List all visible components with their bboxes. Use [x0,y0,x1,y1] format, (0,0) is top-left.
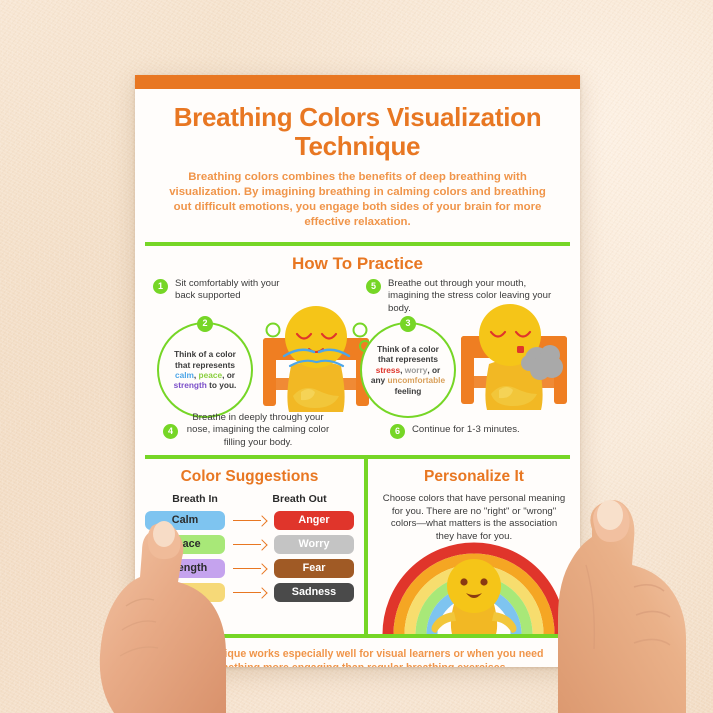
color-pair-row: PeaceWorry [145,535,354,554]
bottom-panels: Color Suggestions Breath In Breath Out C… [135,459,580,634]
color-table-headers: Breath In Breath Out [145,493,354,505]
section-title-personalize: Personalize It [378,468,570,486]
step-item-4: 4 Breathe in deeply through your nose, i… [163,412,331,449]
section-title-color-suggestions: Color Suggestions [145,468,354,486]
breath-in-chip-calm[interactable]: Calm [145,511,225,530]
bubble2-word-calm: calm [175,370,194,380]
breath-in-chip-strength[interactable]: Strength [145,559,225,578]
color-pair-row: CalmAnger [145,511,354,530]
bubble3-word-stress: stress [376,365,400,375]
step-badge-2: 2 [197,316,213,332]
step-badge-1: 1 [153,279,168,294]
step-text-4: Breathe in deeply through your nose, ima… [185,412,331,449]
step-badge-3: 3 [400,316,416,332]
bottom-steps-row: 4 Breathe in deeply through your nose, i… [135,412,580,449]
top-accent-bar [135,75,580,89]
poster-card: Breathing Colors Visualization Technique… [135,75,580,667]
breath-in-chip-joy[interactable]: Joy [145,583,225,602]
exhaling-character-illustration [455,302,573,414]
arrow-right-icon [231,515,269,525]
column-header-breath-out: Breath Out [272,493,326,505]
color-pair-row: JoySadness [145,583,354,602]
footer-note: This technique works especially well for… [135,638,580,667]
bubble3-lead: Think of a color that represents [377,344,439,364]
step-text-1: Sit comfortably with your back supported [175,278,293,303]
section-title-practice: How To Practice [147,254,568,274]
poster-intro-text: Breathing colors combines the benefits o… [161,170,554,230]
arrow-right-icon [231,539,269,549]
bubble2-lead: Think of a color that represents [174,349,236,369]
bubble2-word-strength: strength [174,380,207,390]
page-title: Breathing Colors Visualization Technique [161,103,554,161]
personalize-description: Choose colors that have personal meaning… [378,493,570,543]
step-bubble-3: 3 Think of a color that represents stres… [360,322,456,418]
bubble3-word-uncomfortable: uncomfortable [387,375,445,385]
step-bubble-2: 2 Think of a color that represents calm,… [157,322,253,418]
breath-out-chip-fear[interactable]: Fear [274,559,354,578]
bubble3-tail: feeling [395,386,422,396]
color-suggestions-panel: Color Suggestions Breath In Breath Out C… [135,459,364,634]
color-pairs-list: CalmAngerPeaceWorryStrengthFearJoySadnes… [145,511,354,602]
arrow-right-icon [231,563,269,573]
step-badge-6: 6 [390,424,405,439]
step-text-3: Think of a color that represents stress,… [369,344,447,396]
column-header-breath-in: Breath In [172,493,218,505]
breath-in-chip-peace[interactable]: Peace [145,535,225,554]
breath-out-chip-sadness[interactable]: Sadness [274,583,354,602]
rainbow-character-illustration [368,542,580,634]
personalize-it-panel: Personalize It Choose colors that have p… [364,459,580,634]
step-text-6: Continue for 1-3 minutes. [412,424,552,436]
step-badge-4: 4 [163,424,178,439]
bubble2-word-peace: peace [199,370,223,380]
step-item-6: 6 Continue for 1-3 minutes. [390,412,552,449]
breath-out-chip-worry[interactable]: Worry [274,535,354,554]
step-text-2: Think of a color that represents calm, p… [166,349,244,391]
meditating-character-illustration [257,304,375,416]
how-to-practice-section: How To Practice 1 Sit comfortably with y… [135,246,580,455]
poster-header: Breathing Colors Visualization Technique… [135,89,580,242]
step-badge-5: 5 [366,279,381,294]
breath-out-chip-anger[interactable]: Anger [274,511,354,530]
bubble2-tail: to you. [207,380,237,390]
color-pair-row: StrengthFear [145,559,354,578]
arrow-right-icon [231,587,269,597]
bubble3-word-worry: worry [405,365,428,375]
bubble2-sep2: , or [222,370,235,380]
